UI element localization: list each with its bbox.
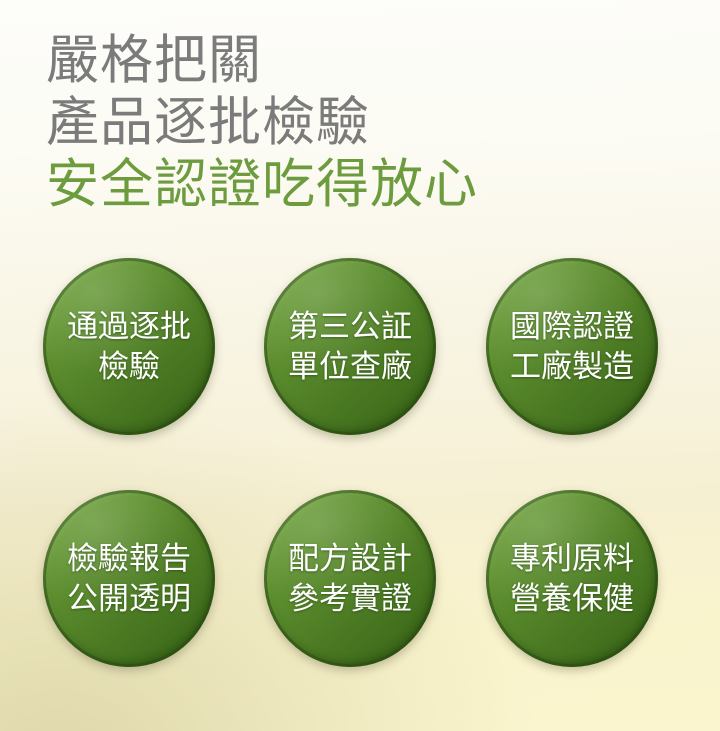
badge-transparent-report[interactable]: 檢驗報告 公開透明: [43, 490, 215, 667]
badge-label-line-1: 配方設計: [288, 539, 412, 579]
badge-label-line-2: 工廠製造: [510, 347, 634, 387]
badge-third-party-notary[interactable]: 第三公証 單位查廠: [264, 258, 436, 435]
heading-line-3: 安全認證吃得放心: [46, 154, 686, 216]
badge-label-line-2: 參考實證: [288, 579, 412, 619]
badge-row-1: 通過逐批 檢驗 第三公証 單位查廠 國際認證 工廠製造: [0, 258, 720, 435]
badge-label-line-2: 營養保健: [510, 579, 634, 619]
badge-label-line-2: 檢驗: [98, 347, 160, 387]
page-title: 嚴格把關 產品逐批檢驗 安全認證吃得放心: [46, 30, 686, 216]
badge-international-certified-factory[interactable]: 國際認證 工廠製造: [486, 258, 658, 435]
badge-label-line-1: 第三公証: [288, 307, 412, 347]
badge-patented-ingredients[interactable]: 專利原料 營養保健: [486, 490, 658, 667]
badge-label-line-1: 專利原料: [510, 539, 634, 579]
badge-grid: 通過逐批 檢驗 第三公証 單位查廠 國際認證 工廠製造 檢驗報告 公開透明: [0, 258, 720, 722]
badge-batch-inspection[interactable]: 通過逐批 檢驗: [43, 258, 215, 435]
badge-formula-evidence[interactable]: 配方設計 參考實證: [264, 490, 436, 667]
badge-label-line-2: 公開透明: [67, 579, 191, 619]
badge-row-2: 檢驗報告 公開透明 配方設計 參考實證 專利原料 營養保健: [0, 490, 720, 667]
badge-label-line-1: 國際認證: [510, 307, 634, 347]
heading-line-2: 產品逐批檢驗: [46, 92, 686, 154]
badge-label-line-2: 單位查廠: [288, 347, 412, 387]
badge-label-line-1: 檢驗報告: [67, 539, 191, 579]
promo-poster: 嚴格把關 產品逐批檢驗 安全認證吃得放心 通過逐批 檢驗 第三公証 單位查廠 國…: [0, 0, 720, 731]
heading-line-1: 嚴格把關: [46, 30, 686, 92]
badge-label-line-1: 通過逐批: [67, 307, 191, 347]
